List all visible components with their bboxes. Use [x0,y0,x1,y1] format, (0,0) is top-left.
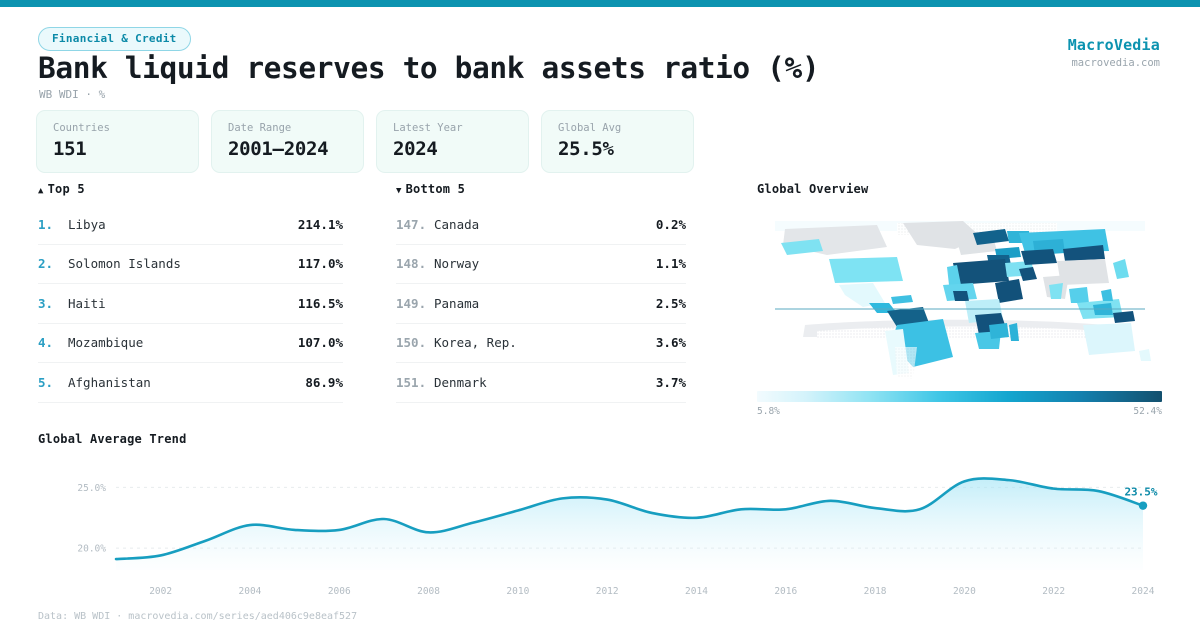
stat-value: 2001—2024 [228,138,347,160]
table-row[interactable]: 147. Canada 0.2% [396,205,686,245]
rank: 149. [396,296,434,311]
brand-name: MacroVedia [1068,36,1160,54]
country-name: Canada [434,217,656,232]
country-value: 107.0% [298,335,343,350]
table-row[interactable]: 5. Afghanistan 86.9% [38,363,343,403]
map-legend-labels: 5.8% 52.4% [757,406,1162,417]
x-tick-label: 2018 [864,586,887,597]
table-row[interactable]: 149. Panama 2.5% [396,284,686,324]
stat-label: Countries [53,122,182,134]
choropleth-map[interactable] [757,207,1162,385]
rank: 2. [38,256,68,271]
table-row[interactable]: 150. Korea, Rep. 3.6% [396,324,686,364]
caret-down-icon: ▼ [396,186,402,196]
x-tick-label: 2002 [149,586,172,597]
country-value: 214.1% [298,217,343,232]
y-tick-label: 25.0% [77,483,106,494]
caret-up-icon: ▲ [38,186,44,196]
country-value: 117.0% [298,256,343,271]
page-root: Financial & Credit Bank liquid reserves … [0,7,1200,630]
x-tick-label: 2016 [774,586,797,597]
rank: 4. [38,335,68,350]
stat-label: Global Avg [558,122,677,134]
table-row[interactable]: 2. Solomon Islands 117.0% [38,245,343,285]
trend-chart[interactable]: 20.0%25.0% 23.5% 20022004200620082010201… [38,454,1163,606]
country-name: Norway [434,256,656,271]
bottom5-panel: ▼Bottom 5 147. Canada 0.2% 148. Norway 1… [396,182,686,403]
country-name: Denmark [434,375,656,390]
country-value: 0.2% [656,217,686,232]
bottom5-heading-label: Bottom 5 [406,182,465,196]
rank: 148. [396,256,434,271]
y-tick-label: 20.0% [77,544,106,555]
country-name: Mozambique [68,335,298,350]
x-tick-label: 2008 [417,586,440,597]
stat-value: 25.5% [558,138,677,160]
table-row[interactable]: 148. Norway 1.1% [396,245,686,285]
rank: 151. [396,375,434,390]
category-badge: Financial & Credit [38,27,191,51]
country-value: 3.6% [656,335,686,350]
legend-min-label: 5.8% [757,406,780,417]
map-legend-gradient [757,391,1162,402]
table-row[interactable]: 3. Haiti 116.5% [38,284,343,324]
top5-heading: ▲Top 5 [38,182,343,196]
country-name: Solomon Islands [68,256,298,271]
country-name: Korea, Rep. [434,335,656,350]
stat-value: 151 [53,138,182,160]
x-tick-label: 2022 [1042,586,1065,597]
page-title: Bank liquid reserves to bank assets rati… [38,51,819,85]
table-row[interactable]: 4. Mozambique 107.0% [38,324,343,364]
rank: 1. [38,217,68,232]
country-value: 1.1% [656,256,686,271]
x-tick-label: 2010 [506,586,529,597]
x-tick-label: 2004 [239,586,262,597]
stat-card-countries: Countries 151 [36,110,199,173]
bottom5-heading: ▼Bottom 5 [396,182,686,196]
country-value: 2.5% [656,296,686,311]
top5-heading-label: Top 5 [48,182,85,196]
country-value: 3.7% [656,375,686,390]
page-subtitle: WB WDI · % [39,88,105,101]
map-heading: Global Overview [757,182,1162,196]
top5-panel: ▲Top 5 1. Libya 214.1% 2. Solomon Island… [38,182,343,403]
top-accent-bar [0,0,1200,7]
rank: 150. [396,335,434,350]
rank: 5. [38,375,68,390]
country-name: Panama [434,296,656,311]
table-row[interactable]: 151. Denmark 3.7% [396,363,686,403]
country-name: Haiti [68,296,298,311]
stat-value: 2024 [393,138,512,160]
global-overview-panel: Global Overview [757,182,1162,417]
legend-max-label: 52.4% [1133,406,1162,417]
country-name: Libya [68,217,298,232]
trend-panel: Global Average Trend 20.0%25.0% 23.5% 20… [38,432,1163,606]
trend-heading: Global Average Trend [38,432,1163,446]
stat-card-date-range: Date Range 2001—2024 [211,110,364,173]
country-value: 86.9% [305,375,343,390]
rank: 147. [396,217,434,232]
x-tick-label: 2024 [1132,586,1155,597]
country-name: Afghanistan [68,375,305,390]
rank: 3. [38,296,68,311]
brand: MacroVedia macrovedia.com [1068,36,1160,69]
brand-url: macrovedia.com [1068,57,1160,69]
x-tick-label: 2020 [953,586,976,597]
x-tick-label: 2006 [328,586,351,597]
stat-card-global-avg: Global Avg 25.5% [541,110,694,173]
table-row[interactable]: 1. Libya 214.1% [38,205,343,245]
country-value: 116.5% [298,296,343,311]
x-tick-label: 2014 [685,586,708,597]
stat-card-latest-year: Latest Year 2024 [376,110,529,173]
stat-label: Latest Year [393,122,512,134]
footer-source: Data: WB WDI · macrovedia.com/series/aed… [38,611,357,622]
x-tick-label: 2012 [596,586,619,597]
trend-end-label: 23.5% [1124,486,1157,499]
stat-cards: Countries 151 Date Range 2001—2024 Lates… [36,110,694,173]
stat-label: Date Range [228,122,347,134]
